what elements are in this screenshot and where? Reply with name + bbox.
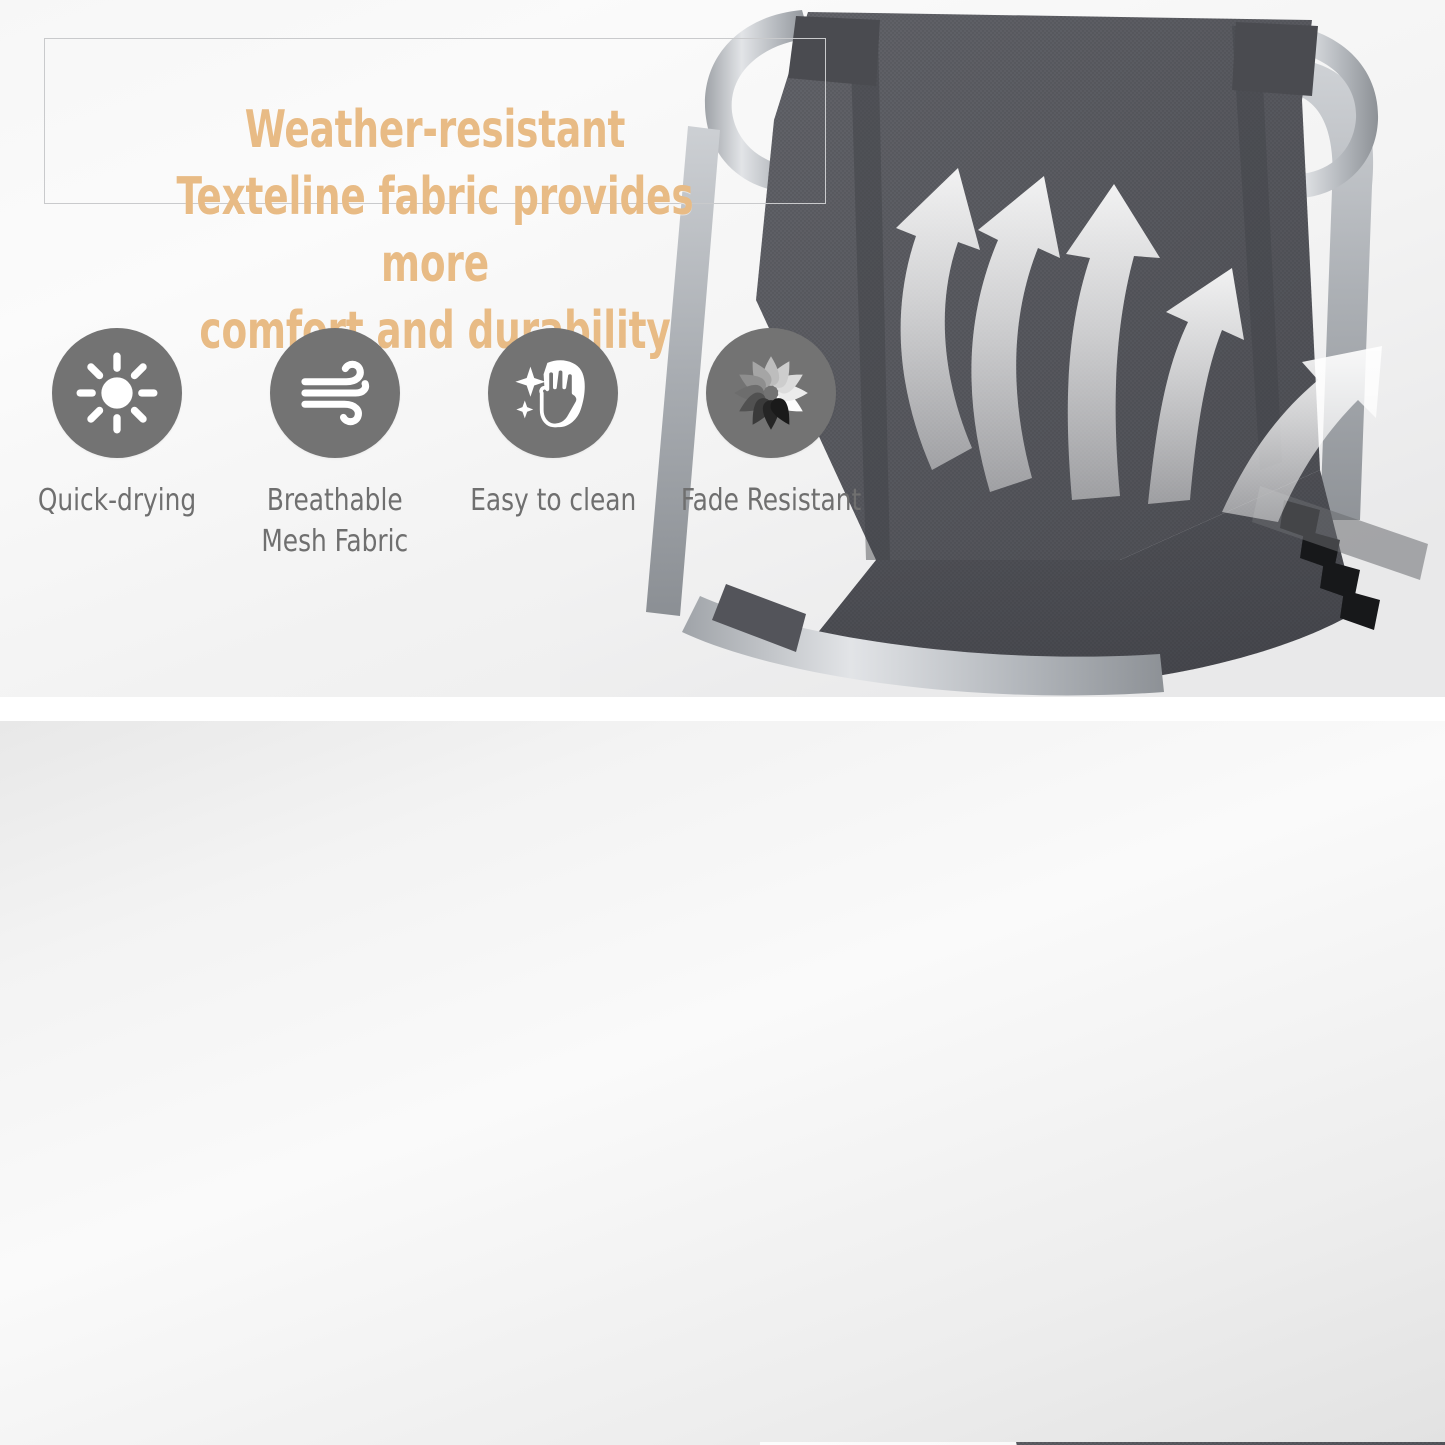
feature-easy-to-clean[interactable]: Easy to clean [444,328,662,521]
feature-label: Easy to clean [470,480,636,521]
feature-label: Fade Resistant [681,480,861,521]
feature-fade-resistant[interactable]: Fade Resistant [662,328,880,521]
page-title-weather-resistant: Weather-resistant Texteline fabric provi… [122,97,748,365]
color-fade-wheel-icon [706,328,836,458]
cleaning-hand-icon [488,328,618,458]
panel-divider [0,697,1445,721]
wind-icon [270,328,400,458]
sun-icon [52,328,182,458]
feature-label: Quick-drying [38,480,196,521]
feature-label: Breathable Mesh Fabric [262,480,409,563]
infographic-canvas: Weather-resistant Texteline fabric provi… [0,0,1445,1445]
feature-row-fabric: Quick-drying Breathable Mesh Fabric [0,328,900,563]
feature-breathable-mesh[interactable]: Breathable Mesh Fabric [226,328,444,563]
feature-quick-drying[interactable]: Quick-drying [8,328,226,521]
panel-aluminum-frame: Durable Aluminum frame for easy carry an… [0,721,1445,1445]
panel-weather-resistant: Weather-resistant Texteline fabric provi… [0,0,1445,697]
